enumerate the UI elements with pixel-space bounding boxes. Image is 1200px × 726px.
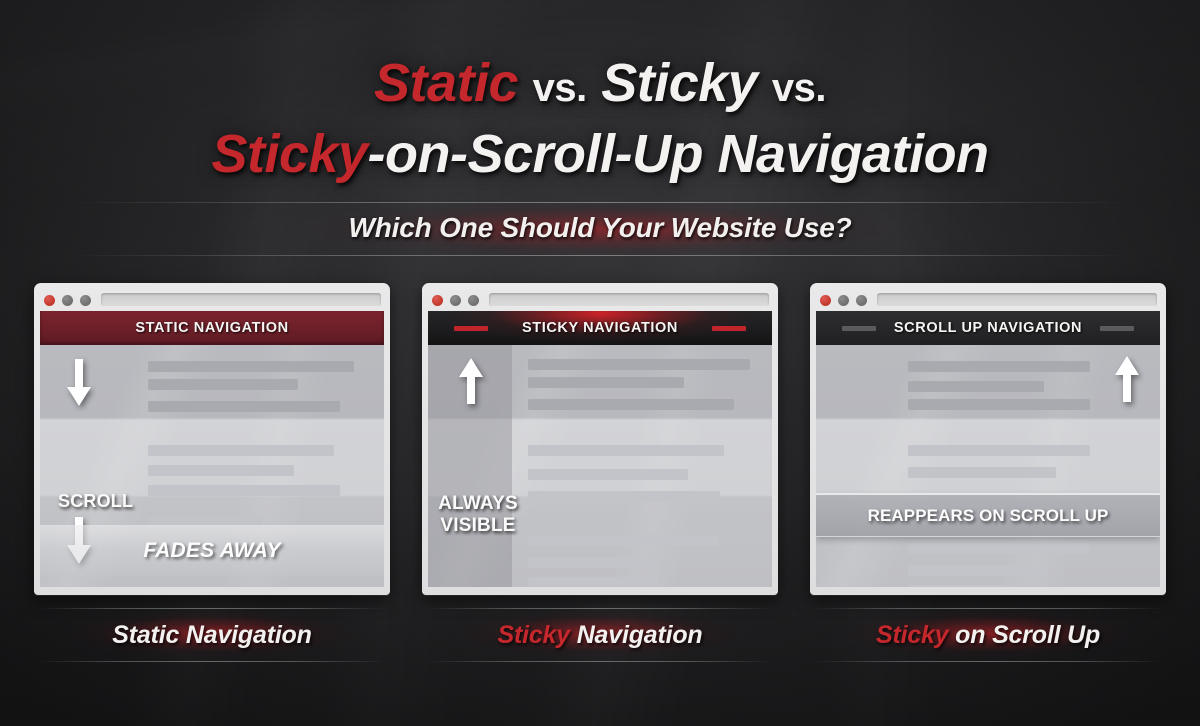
- site-navbar-static: STATIC NAVIGATION: [40, 311, 384, 345]
- site-navbar-scrollup: SCROLL UP NAVIGATION: [816, 311, 1160, 345]
- close-button-icon[interactable]: [432, 295, 443, 306]
- minimize-button-icon[interactable]: [62, 295, 73, 306]
- maximize-button-icon[interactable]: [856, 295, 867, 306]
- browser-titlebar: [40, 289, 384, 311]
- content-line: [528, 535, 718, 546]
- title-rest: -on-Scroll-Up Navigation: [368, 124, 989, 184]
- page-content-static: SCROLL FADES AWAY: [40, 345, 384, 587]
- caption-sticky: Sticky Navigation: [422, 604, 778, 666]
- content-line: [528, 359, 750, 370]
- url-input[interactable]: [877, 293, 1157, 307]
- close-button-icon[interactable]: [820, 295, 831, 306]
- maximize-button-icon[interactable]: [468, 295, 479, 306]
- reappears-band: REAPPEARS ON SCROLL UP: [816, 493, 1160, 537]
- browser-window-static: STATIC NAVIGATION SCROLL: [34, 283, 390, 595]
- browser-window-sticky: STICKY NAVIGATION: [422, 283, 778, 595]
- content-line: [908, 399, 1090, 410]
- content-line: [148, 361, 354, 372]
- content-line: [908, 467, 1056, 478]
- content-line: [148, 401, 340, 412]
- captions-row: Static Navigation Sticky Navigation Stic…: [34, 604, 1166, 666]
- browser-window-scrollup: SCROLL UP NAVIGATION: [810, 283, 1166, 595]
- scroll-down-arrow-top: [66, 359, 92, 407]
- caption-static: Static Navigation: [34, 604, 390, 666]
- caption-highlight: Sticky: [497, 621, 569, 649]
- panel-static-navigation: STATIC NAVIGATION SCROLL: [34, 283, 390, 595]
- navbar-title: STATIC NAVIGATION: [135, 320, 288, 336]
- minimize-button-icon[interactable]: [450, 295, 461, 306]
- fades-away-label: FADES AWAY: [143, 539, 280, 563]
- content-line: [908, 543, 1090, 554]
- page-content-scrollup: REAPPEARS ON SCROLL UP: [816, 345, 1160, 587]
- content-line: [908, 381, 1044, 392]
- always-visible-label: ALWAYS VISIBLE: [436, 493, 520, 537]
- site-navbar-sticky: STICKY NAVIGATION: [428, 311, 772, 345]
- close-button-icon[interactable]: [44, 295, 55, 306]
- content-line: [148, 379, 298, 390]
- caption-plain: Navigation: [570, 621, 703, 649]
- reappears-label: REAPPEARS ON SCROLL UP: [868, 506, 1109, 526]
- caption-text-scrollup: Sticky on Scroll Up: [810, 604, 1166, 666]
- title-word-sticky-2: Sticky: [211, 124, 367, 184]
- caption-scrollup: Sticky on Scroll Up: [810, 604, 1166, 666]
- title-line-2: Sticky-on-Scroll-Up Navigation: [0, 123, 1200, 185]
- url-input[interactable]: [489, 293, 769, 307]
- content-line: [908, 445, 1090, 456]
- title-word-static: Static: [374, 53, 518, 113]
- content-line: [528, 469, 688, 480]
- content-line: [528, 377, 684, 388]
- maximize-button-icon[interactable]: [80, 295, 91, 306]
- caption-highlight: Sticky: [876, 621, 948, 649]
- content-line: [148, 465, 294, 476]
- url-input[interactable]: [101, 293, 381, 307]
- content-line: [148, 485, 340, 496]
- caption-text-sticky: Sticky Navigation: [422, 604, 778, 666]
- title-word-sticky: Sticky: [601, 53, 757, 113]
- page-title: Static vs. Sticky vs. Sticky-on-Scroll-U…: [0, 52, 1200, 185]
- navbar-title: STICKY NAVIGATION: [522, 320, 678, 336]
- scroll-label: SCROLL: [58, 491, 133, 512]
- content-line: [908, 585, 1048, 587]
- panel-scroll-up-navigation: SCROLL UP NAVIGATION: [810, 283, 1166, 595]
- browser-titlebar: [428, 289, 772, 311]
- caption-text-static: Static Navigation: [34, 604, 390, 666]
- fades-away-band: FADES AWAY: [40, 525, 384, 577]
- nav-dash-left-icon: [842, 326, 876, 331]
- content-line: [148, 445, 334, 456]
- title-vs-1: vs.: [533, 66, 587, 110]
- title-vs-2: vs.: [772, 66, 826, 110]
- caption-plain: on Scroll Up: [948, 621, 1100, 649]
- browser-titlebar: [816, 289, 1160, 311]
- title-line-1: Static vs. Sticky vs.: [0, 52, 1200, 119]
- content-line: [908, 565, 1048, 576]
- content-line: [908, 361, 1090, 372]
- navbar-title: SCROLL UP NAVIGATION: [894, 320, 1082, 336]
- page-content-sticky: ALWAYS VISIBLE: [428, 345, 772, 587]
- scroll-up-arrow: [1114, 355, 1140, 403]
- nav-dash-left-icon: [454, 326, 488, 331]
- content-line: [528, 577, 658, 587]
- content-line: [528, 399, 734, 410]
- scroll-up-arrow: [458, 357, 484, 405]
- content-line: [528, 557, 658, 568]
- nav-dash-right-icon: [712, 326, 746, 331]
- subtitle-text: Which One Should Your Website Use?: [0, 200, 1200, 256]
- subtitle-banner: Which One Should Your Website Use?: [0, 200, 1200, 256]
- content-line: [528, 445, 724, 456]
- panels-row: STATIC NAVIGATION SCROLL: [34, 283, 1166, 595]
- caption-plain: Static Navigation: [112, 621, 311, 649]
- minimize-button-icon[interactable]: [838, 295, 849, 306]
- content-line: [528, 491, 720, 502]
- panel-sticky-navigation: STICKY NAVIGATION: [422, 283, 778, 595]
- nav-dash-right-icon: [1100, 326, 1134, 331]
